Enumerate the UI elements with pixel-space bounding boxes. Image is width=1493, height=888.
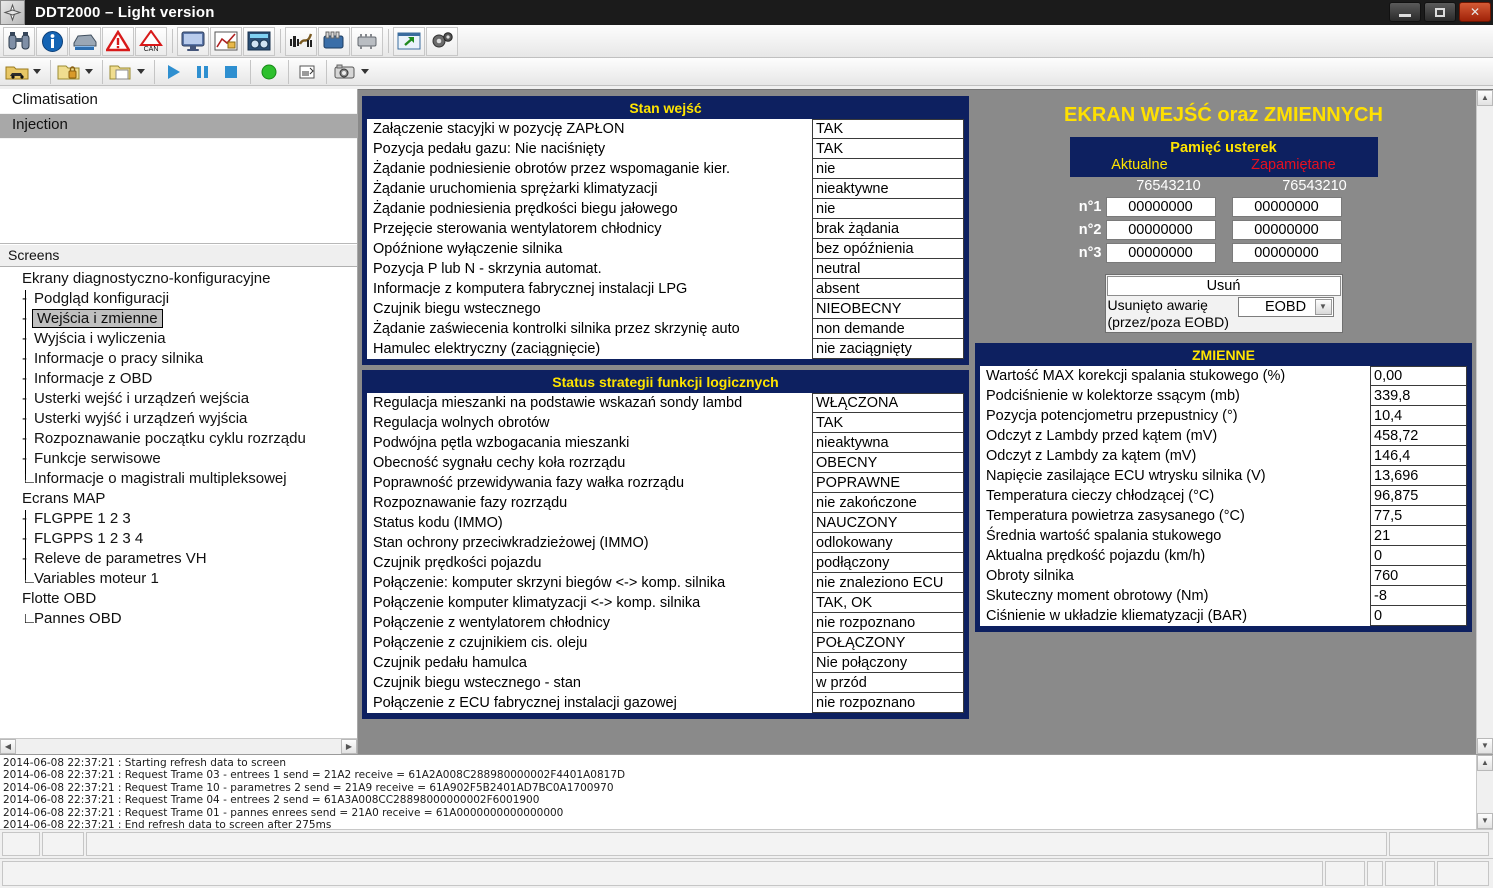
scroll-right-icon[interactable]: ▶ [341,739,357,754]
fault-memory-block: Pamięć usterek Aktualne Zapamiętane 7654… [1070,137,1378,263]
status-bar-lower [0,858,1493,888]
sidebar-horizontal-scrollbar[interactable]: ◀ ▶ [0,738,357,754]
table-row: Żądanie podniesienie obrotów przez wspom… [367,159,964,179]
row-label: Podwójna pętla wzbogacania mieszanki [367,433,812,453]
row-value: w przód [812,673,964,693]
tree-group-ecrans-map[interactable]: Ecrans MAP [0,490,357,510]
row-label: Załączenie stacyjki w pozycję ZAPŁON [367,119,812,139]
tree-item-label: Podgląd konfiguracji [34,290,169,307]
row-label: Czujnik pedału hamulca [367,653,812,673]
save-screen-icon[interactable] [293,60,321,84]
row-label: Temperatura powietrza zasysanego (°C) [980,506,1370,526]
tree-item-label: Rozpoznawanie początku cyklu rozrządu [34,430,306,447]
scroll-up-icon[interactable]: ▲ [1477,90,1493,106]
logic-rows: Regulacja mieszanki na podstawie wskazań… [364,393,967,717]
table-row: Pozycja pedału gazu: Nie naciśniętyTAK [367,139,964,159]
toolbar-separator [154,60,155,84]
sidebar-item-injection[interactable]: Injection [0,114,357,139]
row-value: POŁĄCZONY [812,633,964,653]
fault-row-3: n°3 00000000 00000000 [1070,243,1378,263]
tree-item-label: Funkcje serwisowe [34,450,161,467]
row-label: Stan ochrony przeciwkradzieżowej (IMMO) [367,533,812,553]
status-cell-c [1385,861,1435,886]
table-row: Temperatura cieczy chłodzącej (°C)96,875 [980,486,1467,506]
open-vehicle-folder-icon[interactable] [3,60,31,84]
table-row: Odczyt z Lambdy przed kątem (mV)458,72 [980,426,1467,446]
table-row: Poprawność przewidywania fazy wałka rozr… [367,473,964,493]
screen-canvas: Stan wejść Załączenie stacyjki w pozycję… [358,90,1476,754]
camera-icon[interactable] [331,60,359,84]
tree-branch-icon: - [22,550,27,567]
row-label: Napięcie zasilające ECU wtrysku silnika … [980,466,1370,486]
row-label: Czujnik biegu wstecznego - stan [367,673,812,693]
log-line: 2014-06-08 22:37:21 : Request Trame 01 -… [3,807,1476,819]
log-text[interactable]: 2014-06-08 22:37:21 : Starting refresh d… [0,755,1476,829]
tree-item-label: Releve de parametres VH [34,550,207,567]
row-label: Informacje z komputera fabrycznej instal… [367,279,812,299]
tree-item-podglad-konfiguracji[interactable]: -Podgląd konfiguracji [0,290,357,310]
tree-item-label: Usterki wyjść i urządzeń wyjścia [34,410,247,427]
sidebar-item-climatisation[interactable]: Climatisation [0,89,357,114]
tree-item-label: Informacje o pracy silnika [34,350,203,367]
table-row: Obecność sygnału cechy koła rozrząduOBEC… [367,453,964,473]
row-value: odlokowany [812,533,964,553]
window-controls: ✕ [1389,2,1491,22]
fault-row-1: n°1 00000000 00000000 [1070,197,1378,217]
row-label: Czujnik prędkości pojazdu [367,553,812,573]
scroll-down-icon[interactable]: ▼ [1477,738,1493,754]
close-icon: ✕ [1470,5,1480,19]
row-label: Podciśnienie w kolektorze ssącym (mb) [980,386,1370,406]
tree-item-label: Wejścia i zmienne [32,309,163,328]
tree-group-children: -FLGPPE 1 2 3 -FLGPPS 1 2 3 4 -Releve de… [0,510,357,590]
clear-faults-block: Usuń Usunięto awarię (przez/poza EOBD) E… [1105,274,1343,333]
table-row: Pozycja potencjometru przepustnicy (°)10… [980,406,1467,426]
clear-scope-select[interactable]: EOBD ▼ [1238,297,1334,317]
tree-branch-icon: - [22,450,27,467]
table-row: Stan ochrony przeciwkradzieżowej (IMMO)o… [367,533,964,553]
status-cell-b [1367,861,1383,886]
row-label: Obecność sygnału cechy koła rozrządu [367,453,812,473]
tree-item-usterki-wejsc[interactable]: -Usterki wejść i urządzeń wejścia [0,390,357,410]
status-cell-2 [42,832,84,856]
table-row: Aktualna prędkość pojazdu (km/h)0 [980,546,1467,566]
gauge-panel-icon[interactable] [243,27,275,56]
ecu-chip-icon[interactable] [351,27,383,56]
row-label: Aktualna prędkość pojazdu (km/h) [980,546,1370,566]
row-label: Ciśnienie w układzie kliematyzacji (BAR) [980,606,1370,626]
tree-item-wyjscia-i-wyliczenia[interactable]: -Wyjścia i wyliczenia [0,330,357,350]
clear-faults-description: Usunięto awarię (przez/poza EOBD) [1108,297,1236,330]
row-label: Połączenie z ECU fabrycznej instalacji g… [367,693,812,713]
tree-branch-icon: - [22,330,27,347]
row-value: OBECNY [812,453,964,473]
row-label: Wartość MAX korekcji spalania stukowego … [980,366,1370,386]
row-value: neutral [812,259,964,279]
tree-item-wejscia-i-zmienne[interactable]: -Wejścia i zmienne [0,310,357,330]
tree-item-label: FLGPPS 1 2 3 4 [34,530,143,547]
log-line: 2014-06-08 22:37:21 : End refresh data t… [3,819,1476,829]
status-cell-a [1325,861,1365,886]
tree-branch-icon: - [22,530,27,547]
row-value: 458,72 [1370,426,1467,446]
work-vertical-scrollbar[interactable]: ▲ ▼ [1476,90,1493,754]
table-row: Rozpoznawanie fazy rozrządunie zakończon… [367,493,964,513]
scroll-up-icon[interactable]: ▲ [1477,755,1493,771]
row-value: NIEOBECNY [812,299,964,319]
tree-item-label: Pannes OBD [34,610,122,627]
tree-group-children: -Podgląd konfiguracji -Wejścia i zmienne… [0,290,357,490]
tree-item-variables-moteur-1[interactable]: ∟Variables moteur 1 [0,570,357,590]
row-label: Żądanie podniesienia prędkości biegu jał… [367,199,812,219]
toolbar-separator [250,60,251,84]
wiring-icon[interactable] [285,27,317,56]
row-value: 146,4 [1370,446,1467,466]
log-line: 2014-06-08 22:37:21 : Starting refresh d… [3,757,1476,769]
row-label: Poprawność przewidywania fazy wałka rozr… [367,473,812,493]
table-row: Status kodu (IMMO)NAUCZONY [367,513,964,533]
tree-item-label: Informacje o magistrali multipleksowej [34,470,287,487]
row-value: absent [812,279,964,299]
row-value: 10,4 [1370,406,1467,426]
table-row: Przejęcie sterowania wentylatorem chłodn… [367,219,964,239]
logic-strategy-panel: Status strategii funkcji logicznych Regu… [362,370,969,719]
status-cell-main-lower [2,861,1323,886]
row-label: Pozycja potencjometru przepustnicy (°) [980,406,1370,426]
inputs-rows: Załączenie stacyjki w pozycję ZAPŁONTAK … [364,119,967,363]
row-label: Pozycja P lub N - skrzynia automat. [367,259,812,279]
row-label: Rozpoznawanie fazy rozrządu [367,493,812,513]
tree-branch-icon: - [22,510,27,527]
fault-stored-value[interactable]: 00000000 [1232,243,1342,263]
secondary-toolbar [0,58,1493,86]
row-value: WŁĄCZONA [812,393,964,413]
row-value: nie [812,159,964,179]
log-panel: 2014-06-08 22:37:21 : Starting refresh d… [0,754,1493,829]
row-label: Połączenie komputer klimatyzacji <-> kom… [367,593,812,613]
window-title: DDT2000 – Light version [35,4,215,21]
tree-item-pannes-obd[interactable]: ∟Pannes OBD [0,610,357,630]
row-value: nie rozpoznano [812,693,964,713]
tree-item-magistrala-multipleksowa[interactable]: ∟Informacje o magistrali multipleksowej [0,470,357,490]
ecu-label: Injection [12,116,68,133]
screens-header: Screens [0,244,357,267]
minimize-button[interactable] [1389,2,1421,22]
row-value: non demande [812,319,964,339]
fault-stored-value[interactable]: 00000000 [1232,197,1342,217]
row-value: 339,8 [1370,386,1467,406]
right-panels: EKRAN WEJŚĆ oraz ZMIENNYCH Pamięć ustere… [975,96,1472,754]
table-row: Czujnik biegu wstecznego - stanw przód [367,673,964,693]
fault-current-value[interactable]: 00000000 [1106,220,1216,240]
row-label: Skuteczny moment obrotowy (Nm) [980,586,1370,606]
tree-item-label: Usterki wejść i urządzeń wejścia [34,390,249,407]
toolbar-separator [102,60,103,84]
clear-scope-value: EOBD [1265,299,1306,315]
monitor-icon[interactable] [177,27,209,56]
row-label: Średnia wartość spalania stukowego [980,526,1370,546]
row-label: Regulacja wolnych obrotów [367,413,812,433]
toolbar-separator [288,60,289,84]
table-row: Temperatura powietrza zasysanego (°C)77,… [980,506,1467,526]
main-content: Climatisation Injection Screens Ekrany d… [0,89,1493,754]
row-label: Przejęcie sterowania wentylatorem chłodn… [367,219,812,239]
fault-bit-headers: 76543210 76543210 [1070,178,1378,194]
table-row: Obroty silnika760 [980,566,1467,586]
row-value: NAUCZONY [812,513,964,533]
vehicle-scan-icon[interactable] [69,27,101,56]
chevron-down-icon[interactable]: ▼ [1315,299,1332,315]
row-value: nie [812,199,964,219]
table-row: Żądanie uruchomienia sprężarki klimatyza… [367,179,964,199]
chevron-down-icon[interactable] [361,69,369,74]
table-row: Wartość MAX korekcji spalania stukowego … [980,366,1467,386]
page-title: EKRAN WEJŚĆ oraz ZMIENNYCH [975,96,1472,137]
fault-current-value[interactable]: 00000000 [1106,243,1216,263]
tree-item-label: FLGPPE 1 2 3 [34,510,131,527]
tree-branch-end-icon: ∟ [22,610,37,627]
left-panels: Stan wejść Załączenie stacyjki w pozycję… [362,96,969,754]
tree-item-informacje-z-obd[interactable]: -Informacje z OBD [0,370,357,390]
row-value: TAK [812,139,964,159]
svg-text:CAN: CAN [144,46,159,52]
status-bar-upper [0,829,1493,858]
status-cell-right [1389,832,1489,856]
binoculars-icon[interactable] [3,27,35,56]
table-row: Połączenie: komputer skrzyni biegów <-> … [367,573,964,593]
table-row: Pozycja P lub N - skrzynia automat.neutr… [367,259,964,279]
table-row: Połączenie z czujnikiem cis. olejuPOŁĄCZ… [367,633,964,653]
table-row: Połączenie z ECU fabrycznej instalacji g… [367,693,964,713]
tree-branch-icon: - [22,390,27,407]
tree-item-funkcje-serwisowe[interactable]: -Funkcje serwisowe [0,450,357,470]
row-label: Obroty silnika [980,566,1370,586]
row-value: podłączony [812,553,964,573]
inputs-panel: Stan wejść Załączenie stacyjki w pozycję… [362,96,969,365]
row-label: Regulacja mieszanki na podstawie wskazań… [367,393,812,413]
table-row: Informacje z komputera fabrycznej instal… [367,279,964,299]
toolbar-separator [326,60,327,84]
table-row: Regulacja mieszanki na podstawie wskazań… [367,393,964,413]
window-titlebar: DDT2000 – Light version ✕ [0,0,1493,25]
row-value: TAK [812,413,964,433]
open-folder-icon[interactable] [107,60,135,84]
fault-row-label: n°2 [1070,222,1106,238]
table-row: Średnia wartość spalania stukowego21 [980,526,1467,546]
row-label: Żądanie zaświecenia kontrolki silnika pr… [367,319,812,339]
can-warning-icon[interactable]: CAN [135,27,167,56]
row-label: Odczyt z Lambdy przed kątem (mV) [980,426,1370,446]
table-row: Czujnik biegu wstecznegoNIEOBECNY [367,299,964,319]
log-line: 2014-06-08 22:37:21 : Request Trame 10 -… [3,782,1476,794]
row-label: Połączenie: komputer skrzyni biegów <-> … [367,573,812,593]
table-row: Podciśnienie w kolektorze ssącym (mb)339… [980,386,1467,406]
row-label: Żądanie podniesienie obrotów przez wspom… [367,159,812,179]
ecu-label: Climatisation [12,91,98,108]
restore-button[interactable] [1424,2,1456,22]
table-row: Żądanie zaświecenia kontrolki silnika pr… [367,319,964,339]
fault-col-stored: Zapamiętane [1251,157,1336,173]
row-value: brak żądania [812,219,964,239]
tree-item-rozpoznawanie-cyklu[interactable]: -Rozpoznawanie początku cyklu rozrządu [0,430,357,450]
clear-faults-button[interactable]: Usuń [1107,276,1341,296]
row-value: nie zaciągnięty [812,339,964,359]
pause-icon[interactable] [188,60,216,84]
row-label: Status kodu (IMMO) [367,513,812,533]
table-row: Regulacja wolnych obrotówTAK [367,413,964,433]
tree-branch-icon: - [22,410,27,427]
row-value: 21 [1370,526,1467,546]
main-toolbar: CAN [0,25,1493,58]
record-icon[interactable] [255,60,283,84]
fault-col-current: Aktualne [1111,157,1167,173]
row-label: Temperatura cieczy chłodzącej (°C) [980,486,1370,506]
work-area: Stan wejść Załączenie stacyjki w pozycję… [358,89,1493,754]
fault-memory-header: Pamięć usterek Aktualne Zapamiętane [1070,137,1378,177]
status-cell-1 [2,832,40,856]
row-value: nie rozpoznano [812,613,964,633]
row-value: POPRAWNE [812,473,964,493]
play-icon[interactable] [159,60,187,84]
chevron-down-icon[interactable] [85,69,93,74]
close-button[interactable]: ✕ [1459,2,1491,22]
row-label: Opóźnione wyłączenie silnika [367,239,812,259]
toolbar-separator [50,60,51,84]
variables-panel: ZMIENNE Wartość MAX korekcji spalania st… [975,343,1472,632]
fault-memory-title: Pamięć usterek [1070,140,1378,156]
row-label: Hamulec elektryczny (zaciągnięcie) [367,339,812,359]
tree-item-flgppe[interactable]: -FLGPPE 1 2 3 [0,510,357,530]
log-vertical-scrollbar[interactable]: ▲ ▼ [1476,755,1493,829]
fault-current-value[interactable]: 00000000 [1106,197,1216,217]
chevron-down-icon[interactable] [33,69,41,74]
tree-item-informacje-o-pracy-silnika[interactable]: -Informacje o pracy silnika [0,350,357,370]
ecu-list: Climatisation Injection [0,89,357,244]
row-value: 13,696 [1370,466,1467,486]
row-value: nie zakończone [812,493,964,513]
row-value: 0 [1370,606,1467,626]
bit-header-stored: 76543210 [1252,178,1378,194]
row-label: Żądanie uruchomienia sprężarki klimatyza… [367,179,812,199]
row-label: Połączenie z wentylatorem chłodnicy [367,613,812,633]
table-row: Czujnik prędkości pojazdupodłączony [367,553,964,573]
tree-item-label: Wyjścia i wyliczenia [34,330,166,347]
warning-triangle-icon[interactable] [102,27,134,56]
row-value: 96,875 [1370,486,1467,506]
tree-item-flgpps[interactable]: -FLGPPS 1 2 3 4 [0,530,357,550]
info-icon[interactable] [36,27,68,56]
tree-branch-end-icon: ∟ [22,570,37,587]
fault-row-label: n°3 [1070,245,1106,261]
variables-rows: Wartość MAX korekcji spalania stukowego … [977,366,1470,630]
tree-branch-end-icon: ∟ [22,470,37,487]
bit-header-current: 76543210 [1106,178,1232,194]
table-row: Hamulec elektryczny (zaciągnięcie)nie za… [367,339,964,359]
fault-row-2: n°2 00000000 00000000 [1070,220,1378,240]
tree-branch-icon: - [22,290,27,307]
fault-stored-value[interactable]: 00000000 [1232,220,1342,240]
row-value: bez opóźnienia [812,239,964,259]
table-row: Odczyt z Lambdy za kątem (mV)146,4 [980,446,1467,466]
row-value: -8 [1370,586,1467,606]
logic-panel-title: Status strategii funkcji logicznych [364,372,967,393]
table-row: Podwójna pętla wzbogacania mieszankiniea… [367,433,964,453]
tree-branch-icon: - [22,310,27,327]
log-line: 2014-06-08 22:37:21 : Request Trame 04 -… [3,794,1476,806]
row-value: 0 [1370,546,1467,566]
status-cell-d [1437,861,1489,886]
table-row: Załączenie stacyjki w pozycję ZAPŁONTAK [367,119,964,139]
row-value: nie znaleziono ECU [812,573,964,593]
app-logo-icon [0,0,25,25]
chevron-down-icon[interactable] [137,69,145,74]
tree-item-label: Variables moteur 1 [34,570,159,587]
open-locked-folder-icon[interactable] [55,60,83,84]
row-value: 77,5 [1370,506,1467,526]
table-row: Ciśnienie w układzie kliematyzacji (BAR)… [980,606,1467,626]
tree-item-releve-de-parametres-vh[interactable]: -Releve de parametres VH [0,550,357,570]
row-value: TAK, OK [812,593,964,613]
table-row: Czujnik pedału hamulcaNie połączony [367,653,964,673]
table-row: Napięcie zasilające ECU wtrysku silnika … [980,466,1467,486]
toolbar-separator [388,29,389,53]
variables-panel-title: ZMIENNE [977,345,1470,366]
row-label: Pozycja pedału gazu: Nie naciśnięty [367,139,812,159]
tree-branch-icon: - [22,350,27,367]
tree-branch-icon: - [22,430,27,447]
inputs-panel-title: Stan wejść [364,98,967,119]
tree-group-flotte-obd[interactable]: Flotte OBD [0,590,357,610]
table-row: Połączenie z wentylatorem chłodnicynie r… [367,613,964,633]
row-label: Czujnik biegu wstecznego [367,299,812,319]
graph-icon[interactable] [210,27,242,56]
log-line: 2014-06-08 22:37:21 : Request Trame 03 -… [3,769,1476,781]
row-value: nieaktywna [812,433,964,453]
row-value: 760 [1370,566,1467,586]
table-row: Opóźnione wyłączenie silnikabez opóźnien… [367,239,964,259]
tree-branch-icon: - [22,370,27,387]
stop-icon[interactable] [217,60,245,84]
table-row: Żądanie podniesienia prędkości biegu jał… [367,199,964,219]
tree-group-children: ∟Pannes OBD [0,610,357,630]
toolbar-separator [280,29,281,53]
row-value: TAK [812,119,964,139]
scroll-down-icon[interactable]: ▼ [1477,813,1493,829]
status-cell-main [86,832,1387,856]
row-value: Nie połączony [812,653,964,673]
tree-item-usterki-wyjsc[interactable]: -Usterki wyjść i urządzeń wyjścia [0,410,357,430]
fault-row-label: n°1 [1070,199,1106,215]
connector-icon[interactable] [318,27,350,56]
window-export-icon[interactable] [393,27,425,56]
row-label: Odczyt z Lambdy za kątem (mV) [980,446,1370,466]
scroll-left-icon[interactable]: ◀ [0,739,16,754]
tree-item-label: Informacje z OBD [34,370,152,387]
table-row: Skuteczny moment obrotowy (Nm)-8 [980,586,1467,606]
row-value: nieaktywne [812,179,964,199]
table-row: Połączenie komputer klimatyzacji <-> kom… [367,593,964,613]
settings-gears-icon[interactable] [426,27,458,56]
row-label: Połączenie z czujnikiem cis. oleju [367,633,812,653]
screens-tree: Ekrany diagnostyczno-konfiguracyjne -Pod… [0,267,357,754]
sidebar: Climatisation Injection Screens Ekrany d… [0,89,358,754]
toolbar-separator [172,29,173,53]
row-value: 0,00 [1370,366,1467,386]
tree-group-diagnostic[interactable]: Ekrany diagnostyczno-konfiguracyjne [0,270,357,290]
